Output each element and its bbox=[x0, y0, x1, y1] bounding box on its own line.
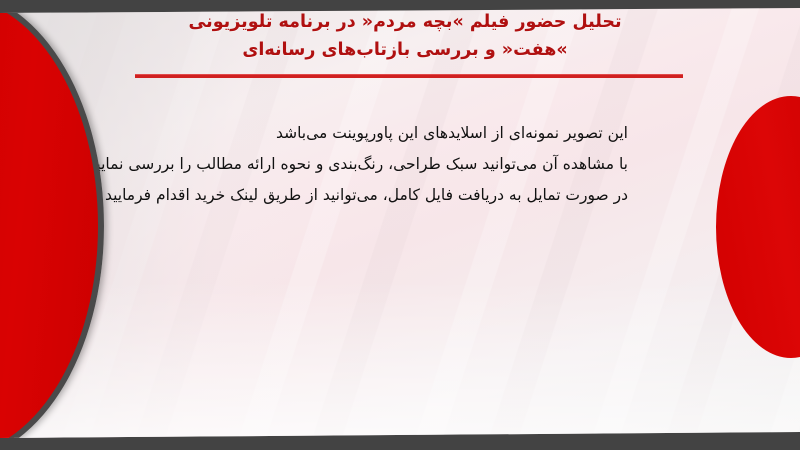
title-line-1: تحلیل حضور فیلم »بچه مردم« در برنامه تلو… bbox=[120, 8, 690, 36]
red-circle-right-decoration bbox=[716, 96, 800, 358]
slide-title: تحلیل حضور فیلم »بچه مردم« در برنامه تلو… bbox=[120, 8, 690, 64]
background-bottom-wash bbox=[0, 280, 800, 450]
body-line-1: این تصویر نمونه‌ای از اسلایدهای این پاور… bbox=[88, 118, 628, 149]
title-underline-rule bbox=[135, 74, 683, 78]
slide-body-text: این تصویر نمونه‌ای از اسلایدهای این پاور… bbox=[88, 118, 628, 211]
body-line-2: با مشاهده آن می‌توانید سبک طراحی، رنگ‌بن… bbox=[88, 149, 628, 180]
background-streaks-decoration bbox=[0, 0, 800, 450]
title-line-2: »هفت« و بررسی بازتاب‌های رسانه‌ای bbox=[120, 36, 690, 64]
slide-background: تحلیل حضور فیلم »بچه مردم« در برنامه تلو… bbox=[0, 0, 800, 450]
body-line-3: در صورت تمایل به دریافت فایل کامل، می‌تو… bbox=[88, 180, 628, 211]
red-ellipse-left-decoration bbox=[0, 0, 104, 450]
slide-canvas: تحلیل حضور فیلم »بچه مردم« در برنامه تلو… bbox=[0, 0, 800, 450]
